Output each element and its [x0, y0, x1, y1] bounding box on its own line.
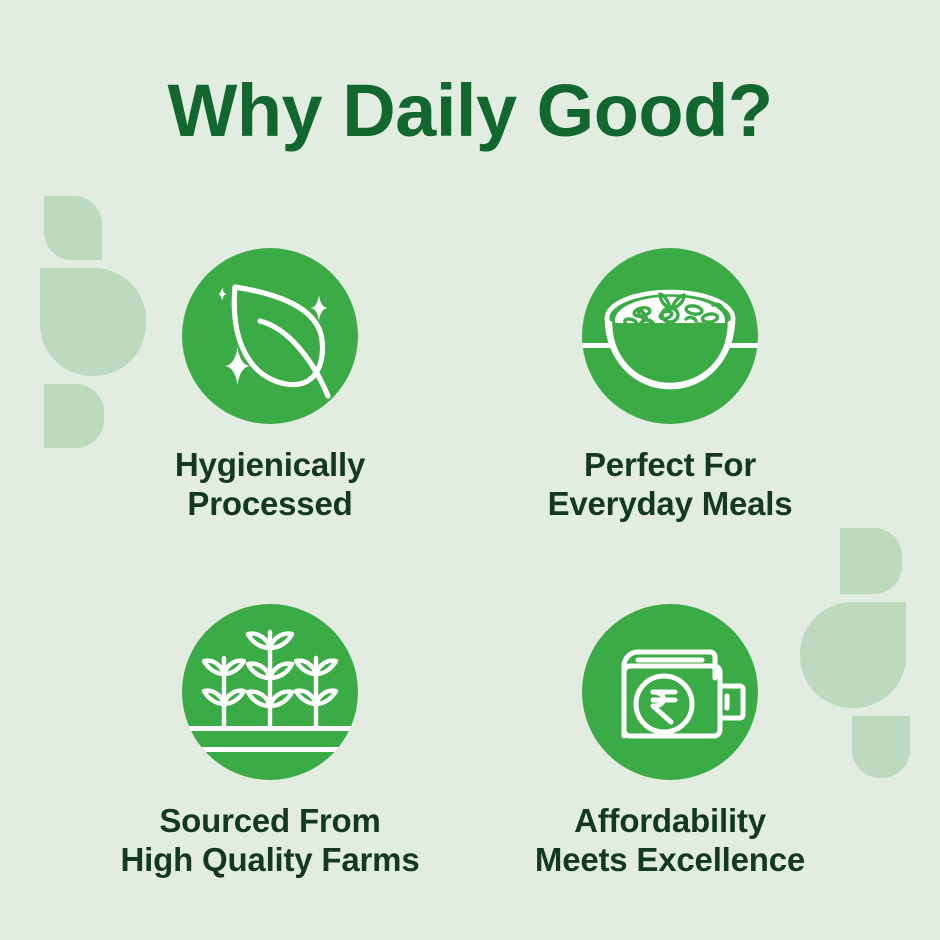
feature-grid: Hygienically Processed [70, 248, 870, 880]
soup-bowl-icon [582, 248, 758, 424]
feature-item-affordability-meets-excellence: Affordability Meets Excellence [470, 604, 870, 880]
feature-icon-badge [582, 248, 758, 424]
feature-item-hygienically-processed: Hygienically Processed [70, 248, 470, 524]
feature-icon-badge [582, 604, 758, 780]
feature-label: Sourced From High Quality Farms [121, 802, 420, 880]
feature-item-perfect-for-everyday-meals: Perfect For Everyday Meals [470, 248, 870, 524]
feature-label: Affordability Meets Excellence [535, 802, 805, 880]
promo-infographic: Why Daily Good? [0, 0, 940, 940]
crop-field-icon [182, 604, 358, 780]
feature-row-bottom: Sourced From High Quality Farms [70, 604, 870, 880]
page-title: Why Daily Good? [0, 74, 940, 148]
feature-icon-badge [182, 604, 358, 780]
leaf-sparkle-icon [182, 248, 358, 424]
feature-label: Hygienically Processed [175, 446, 365, 524]
feature-label: Perfect For Everyday Meals [548, 446, 793, 524]
feature-item-sourced-from-high-quality-farms: Sourced From High Quality Farms [70, 604, 470, 880]
feature-icon-badge [182, 248, 358, 424]
feature-row-top: Hygienically Processed [70, 248, 870, 524]
wallet-rupee-icon [582, 604, 758, 780]
